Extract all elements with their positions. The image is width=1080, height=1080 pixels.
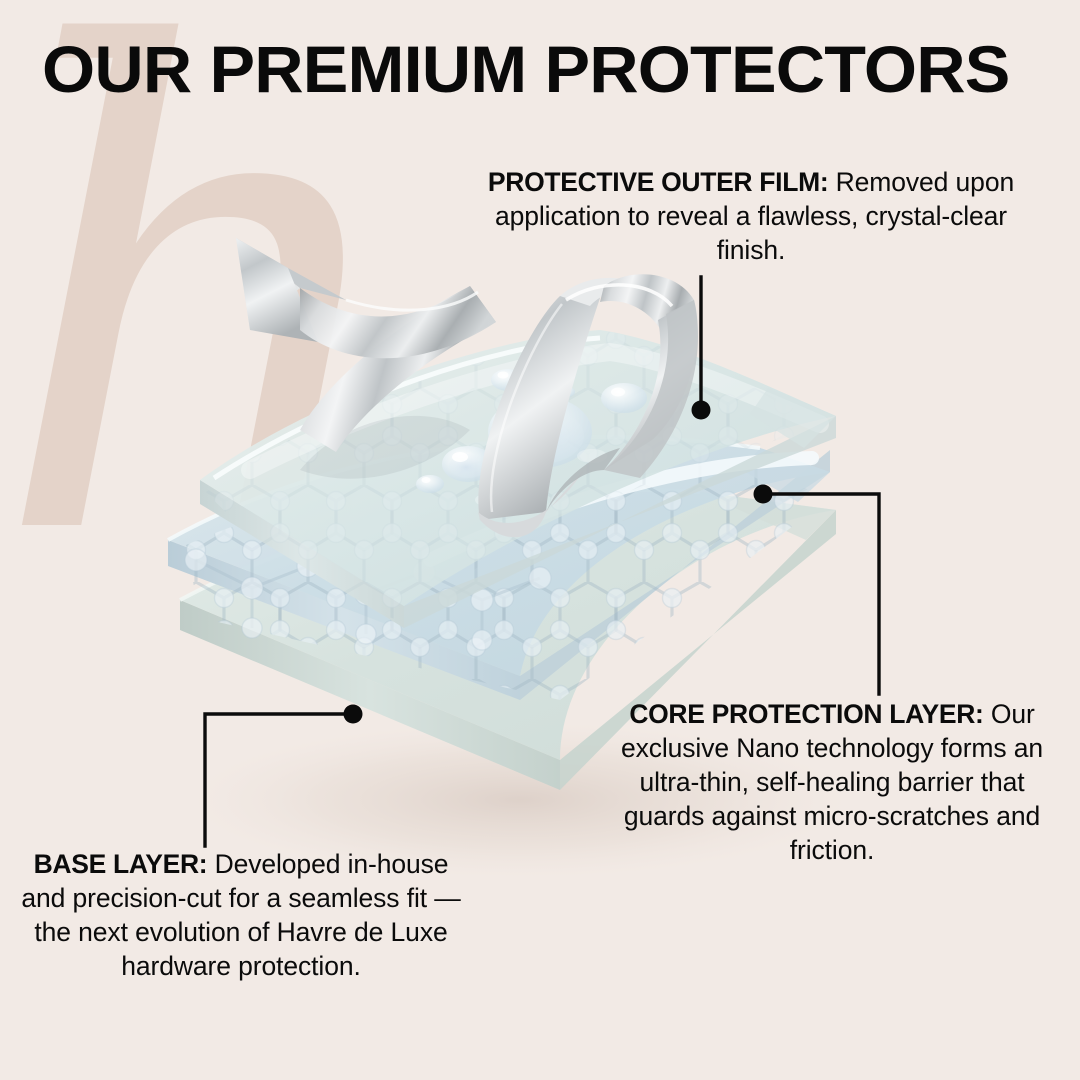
core-protection-sheet [150, 420, 870, 720]
anchor-dot-base-layer [344, 705, 363, 724]
callout-lead-core-protection-layer: CORE PROTECTION LAYER: [629, 699, 983, 729]
anchor-dot-core-protection-layer [754, 485, 773, 504]
leader-core-protection-layer [768, 494, 879, 694]
brand-watermark: h [0, 40, 420, 740]
protective-outer-film-sheet [180, 320, 880, 640]
callout-core-protection-layer: CORE PROTECTION LAYER: Our exclusive Nan… [606, 698, 1058, 868]
infographic-canvas: h OUR PREMIUM PROTECTORS [0, 0, 1080, 1080]
callout-protective-outer-film: PROTECTIVE OUTER FILM: Removed upon appl… [462, 166, 1040, 268]
leader-base-layer [205, 714, 348, 846]
water-droplets [416, 369, 647, 506]
callout-lead-base-layer: BASE LAYER: [34, 849, 208, 879]
page-title: OUR PREMIUM PROTECTORS [42, 36, 1077, 102]
callout-base-layer: BASE LAYER: Developed in-house and preci… [10, 848, 472, 984]
callout-lead-protective-outer-film: PROTECTIVE OUTER FILM: [488, 167, 828, 197]
peel-tab [236, 238, 698, 537]
anchor-dot-protective-outer-film [692, 401, 711, 420]
watermark-letter-h: h [0, 40, 420, 555]
